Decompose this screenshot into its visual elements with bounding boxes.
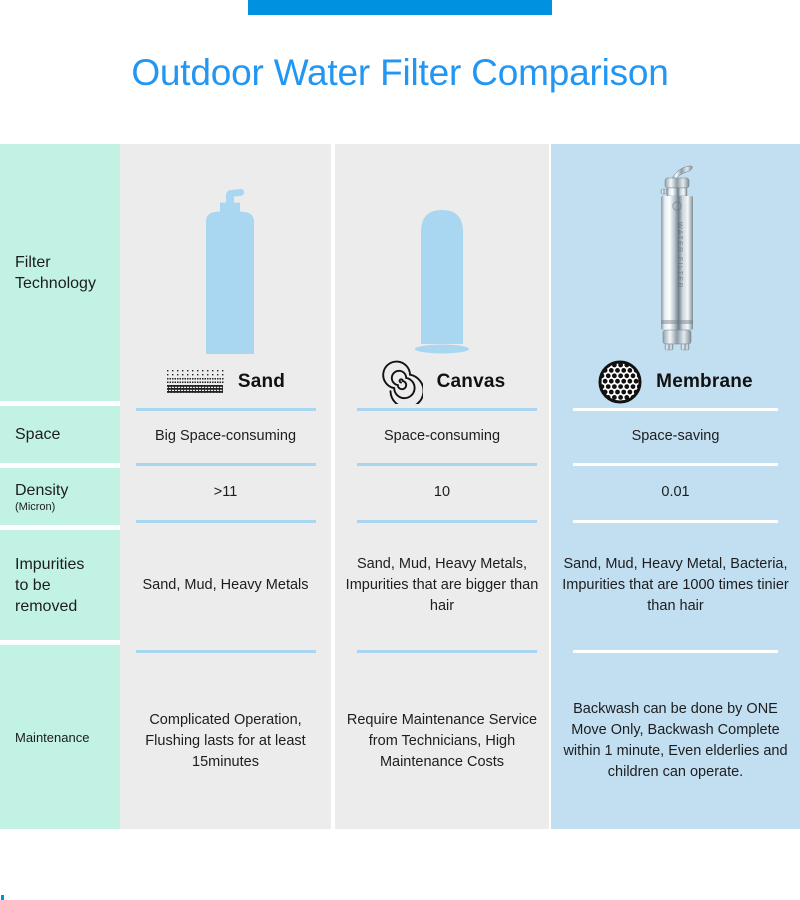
hero-membrane: WATER FILTER — [551, 156, 800, 354]
sand-dots-icon — [166, 369, 224, 395]
row-label-line1: Impurities — [15, 556, 84, 573]
row-label-filter-technology: Filter Technology — [0, 144, 120, 401]
row-label-line2: Technology — [15, 275, 96, 292]
cell-canvas-maintenance: Require Maintenance Service from Technic… — [335, 653, 549, 829]
row-label-line3: removed — [15, 598, 77, 615]
brand-name-canvas: Canvas — [437, 371, 506, 393]
brand-header-canvas: Canvas — [335, 357, 549, 407]
row-label-line1: Filter — [15, 254, 51, 271]
brand-name-sand: Sand — [238, 371, 285, 393]
cell-canvas-density: 10 — [335, 466, 549, 518]
column-membrane[interactable]: WATER FILTER — [551, 144, 800, 829]
cell-canvas-impurities: Sand, Mud, Heavy Metals, Impurities that… — [335, 523, 549, 648]
cell-sand-maintenance: Complicated Operation, Flushing lasts fo… — [120, 653, 331, 829]
hero-canvas — [335, 164, 549, 354]
column-canvas[interactable]: Canvas Space-consuming 10 Sand, Mud, Hea… — [335, 144, 549, 829]
svg-text:WATER FILTER: WATER FILTER — [676, 222, 683, 289]
cell-sand-space: Big Space-consuming — [120, 411, 331, 461]
cell-membrane-maintenance: Backwash can be done by ONE Move Only, B… — [551, 653, 800, 829]
top-accent-bar — [248, 0, 552, 15]
row-label-impurities: Impurities to be removed — [0, 530, 120, 640]
comparison-table: Filter Technology Space Density (Micron)… — [0, 144, 800, 829]
row-label-line1: Space — [15, 426, 60, 443]
row-label-line1: Density — [15, 482, 68, 499]
cell-sand-density: >11 — [120, 466, 331, 518]
hero-sand — [120, 164, 331, 354]
cell-membrane-impurities: Sand, Mud, Heavy Metal, Bacteria, Impuri… — [551, 523, 800, 648]
row-label-sublabel: (Micron) — [15, 501, 68, 514]
row-label-space: Space — [0, 406, 120, 463]
canvas-cylinder-icon — [411, 194, 473, 354]
row-label-line1: Maintenance — [15, 730, 89, 745]
brand-header-membrane: Membrane — [551, 357, 800, 407]
cell-membrane-density: 0.01 — [551, 466, 800, 518]
corner-mark — [1, 895, 4, 900]
steel-membrane-filter-photo: WATER FILTER — [645, 162, 707, 354]
cell-sand-impurities: Sand, Mud, Heavy Metals — [120, 523, 331, 648]
row-label-density: Density (Micron) — [0, 468, 120, 525]
column-sand[interactable]: Sand Big Space-consuming >11 Sand, Mud, … — [120, 144, 331, 829]
tank-silhouette-icon — [193, 176, 259, 354]
brand-name-membrane: Membrane — [656, 371, 753, 393]
cell-canvas-space: Space-consuming — [335, 411, 549, 461]
brand-header-sand: Sand — [120, 357, 331, 407]
row-label-line2: to be — [15, 577, 51, 594]
spiral-icon — [379, 360, 423, 404]
mesh-circle-icon — [598, 360, 642, 404]
page-title: Outdoor Water Filter Comparison — [0, 52, 800, 94]
cell-membrane-space: Space-saving — [551, 411, 800, 461]
row-label-maintenance: Maintenance — [0, 645, 120, 829]
